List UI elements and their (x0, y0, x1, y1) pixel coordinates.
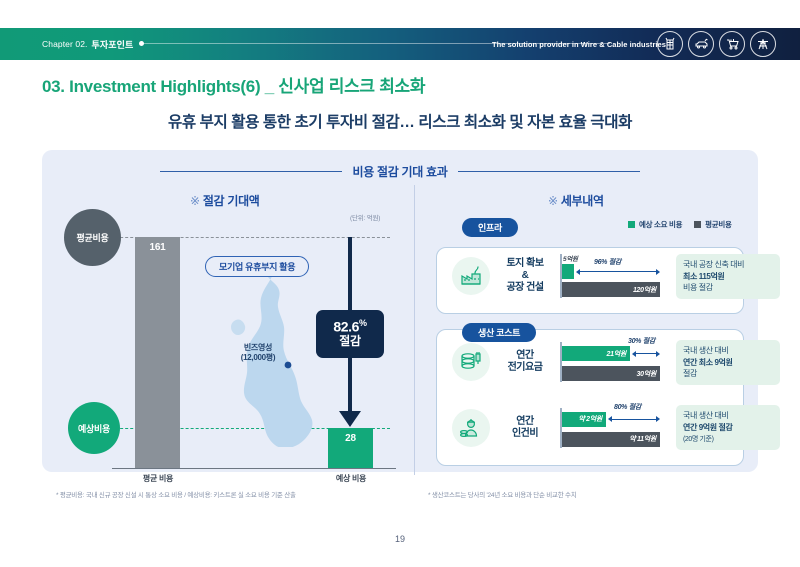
bar-green-labor: 약 2억원 (562, 412, 606, 427)
legend-label-average: 평균비용 (705, 219, 731, 230)
row-label-labor: 연간 인건비 (496, 416, 554, 440)
map-location-name: 빈즈영성 (218, 343, 298, 353)
map-location-area: (12,000평) (218, 353, 298, 363)
bars-labor: 약 2억원 약 11억원 80% 절감 (560, 408, 662, 448)
note-land-and-plant: 국내 공장 신축 대비 최소 115억원 비용 절감 (676, 254, 780, 299)
note-line2: 최소 115억원 (683, 272, 724, 281)
row-electricity: 연간 전기요금 21억원 30억원 30% 절감 국내 생산 대비 연간 최소 … (452, 340, 780, 385)
chapter-name: 투자포인트 (92, 38, 134, 51)
legend-swatch-expected (628, 221, 635, 228)
header-icon-group (657, 28, 776, 60)
note-line1: 국내 공장 신축 대비 (683, 260, 744, 269)
electric-car-icon (688, 31, 714, 57)
left-section-label: 절감 기대액 (203, 194, 260, 208)
reduction-arrows-electricity (636, 353, 656, 354)
row-label-line2: 인건비 (512, 428, 538, 439)
panel-rule-right (458, 171, 640, 172)
panel-title: 비용 절감 기대 효과 (352, 163, 447, 180)
map-location-label: 빈즈영성 (12,000평) (218, 343, 298, 363)
row-label-line1: 토지 확보 (506, 258, 543, 269)
chart-unit-label: (단위: 억원) (350, 212, 380, 222)
footnote-left: * 평균비용: 국내 신규 공장 신설 시 통상 소요 비용 / 예상비용: 키… (56, 489, 296, 499)
row-label-land-and-plant: 토지 확보 & 공장 건설 (496, 258, 554, 294)
factory-icon (452, 257, 490, 295)
footnote-right: * 생산코스트는 당사의 '24년 소요 비용과 단순 비교한 수치 (428, 489, 577, 499)
row-label-line1: 연간 (516, 350, 533, 361)
row-label-line1: 연간 (516, 416, 533, 427)
page-title: 03. Investment Highlights(6) _ 신사업 리스크 최… (42, 72, 425, 97)
page-subtitle: 유휴 부지 활용 통한 초기 투자비 절감… 리스크 최소화 및 자본 효율 극… (0, 110, 800, 132)
bar-average-value: 161 (149, 242, 165, 468)
chart-legend: 예상 소요 비용 평균비용 (628, 219, 732, 230)
bar-label-gray: 30억원 (637, 369, 660, 379)
avg-cost-bubble: 평균비용 (64, 209, 121, 266)
note-electricity: 국내 생산 대비 연간 최소 9억원 절감 (676, 340, 780, 385)
worker-coins-icon (452, 409, 490, 447)
right-section-label: 세부내역 (561, 194, 604, 208)
bar-green-land (562, 264, 574, 279)
row-land-and-plant: 토지 확보 & 공장 건설 5억원 120억원 96% 절감 국내 공장 신축 … (452, 254, 780, 299)
bar-label-gray: 120억원 (633, 285, 660, 295)
top-header-bar: Chapter 02. 투자포인트 The solution provider … (0, 28, 800, 60)
bar-green-electricity: 21억원 (562, 346, 630, 361)
axis-label-average: 평균 비용 (113, 473, 203, 484)
reduction-badge: 82.6% 절감 (316, 310, 384, 358)
note-labor: 국내 생산 대비 연간 9억원 절감 (20명 기준) (676, 405, 780, 450)
left-section-mark: ※ (190, 194, 200, 208)
shopping-cart-icon (719, 31, 745, 57)
chapter-prefix: Chapter 02. (42, 39, 88, 49)
right-section-mark: ※ (548, 194, 558, 208)
note-line1: 국내 생산 대비 (683, 346, 728, 355)
bars-electricity: 21억원 30억원 30% 절감 (560, 342, 662, 382)
bar-label-green: 약 2억원 (578, 414, 606, 424)
reduction-arrows-land (580, 271, 656, 272)
legend-item-expected: 예상 소요 비용 (628, 219, 682, 230)
bar-gray-labor: 약 11억원 (562, 432, 660, 447)
left-section-title: ※ 절감 기대액 (190, 192, 260, 209)
panel-rule-left (160, 171, 342, 172)
bar-label-green: 21억원 (607, 349, 630, 359)
bar-gray-electricity: 30억원 (562, 366, 660, 381)
bar-label-green-outside: 5억원 (563, 253, 578, 263)
bars-land-and-plant: 5억원 120억원 96% 절감 (560, 254, 662, 298)
page-number: 19 (0, 534, 800, 544)
bar-average-cost: 161 (135, 237, 180, 468)
page-title-row: 03. Investment Highlights(6) _ 신사업 리스크 최… (42, 72, 425, 97)
note-line3: (20명 기준) (683, 436, 714, 443)
card-tag-infrastructure: 인프라 (462, 218, 518, 237)
electricity-coins-icon (452, 343, 490, 381)
idle-land-pill: 모기업 유휴부지 활용 (205, 256, 309, 277)
note-line2: 연간 9억원 절감 (683, 423, 732, 432)
note-line1: 국내 생산 대비 (683, 411, 728, 420)
reduction-label-electricity: 30% 절감 (628, 336, 655, 346)
legend-item-average: 평균비용 (694, 219, 731, 230)
axis-label-expected: 예상 비용 (306, 473, 396, 484)
panel-header: 비용 절감 기대 효과 (42, 163, 758, 180)
company-tagline: The solution provider in Wire & Cable in… (492, 28, 666, 60)
row-label-line3: 공장 건설 (506, 282, 543, 293)
chapter-breadcrumb: Chapter 02. 투자포인트 (42, 28, 133, 60)
row-labor: 연간 인건비 약 2억원 약 11억원 80% 절감 국내 생산 대비 연간 9… (452, 405, 780, 450)
reduction-arrow-head (339, 411, 361, 427)
right-section-title: ※ 세부내역 (548, 192, 604, 209)
reduction-arrows-labor (612, 419, 656, 420)
note-line3: 비용 절감 (683, 283, 713, 292)
bar-expected-value: 28 (345, 433, 356, 468)
legend-swatch-average (694, 221, 701, 228)
chart-x-axis (112, 468, 396, 469)
reduction-percent: 82.6% (333, 319, 366, 335)
note-line3: 절감 (683, 369, 697, 378)
bar-label-gray: 약 11억원 (629, 434, 660, 444)
section-divider (414, 185, 415, 475)
row-label-electricity: 연간 전기요금 (496, 350, 554, 374)
wire-spool-icon (657, 31, 683, 57)
reduction-label-land: 96% 절감 (594, 257, 621, 267)
reduction-badge-label: 절감 (339, 335, 360, 348)
expected-cost-bubble: 예상비용 (68, 402, 120, 454)
bar-gray-land: 120억원 (562, 282, 660, 297)
power-tower-icon (750, 31, 776, 57)
reduction-label-labor: 80% 절감 (614, 402, 641, 412)
legend-label-expected: 예상 소요 비용 (639, 219, 682, 230)
note-line2: 연간 최소 9억원 (683, 358, 732, 367)
row-label-line2: 전기요금 (508, 362, 543, 373)
row-label-line2: & (522, 270, 529, 281)
